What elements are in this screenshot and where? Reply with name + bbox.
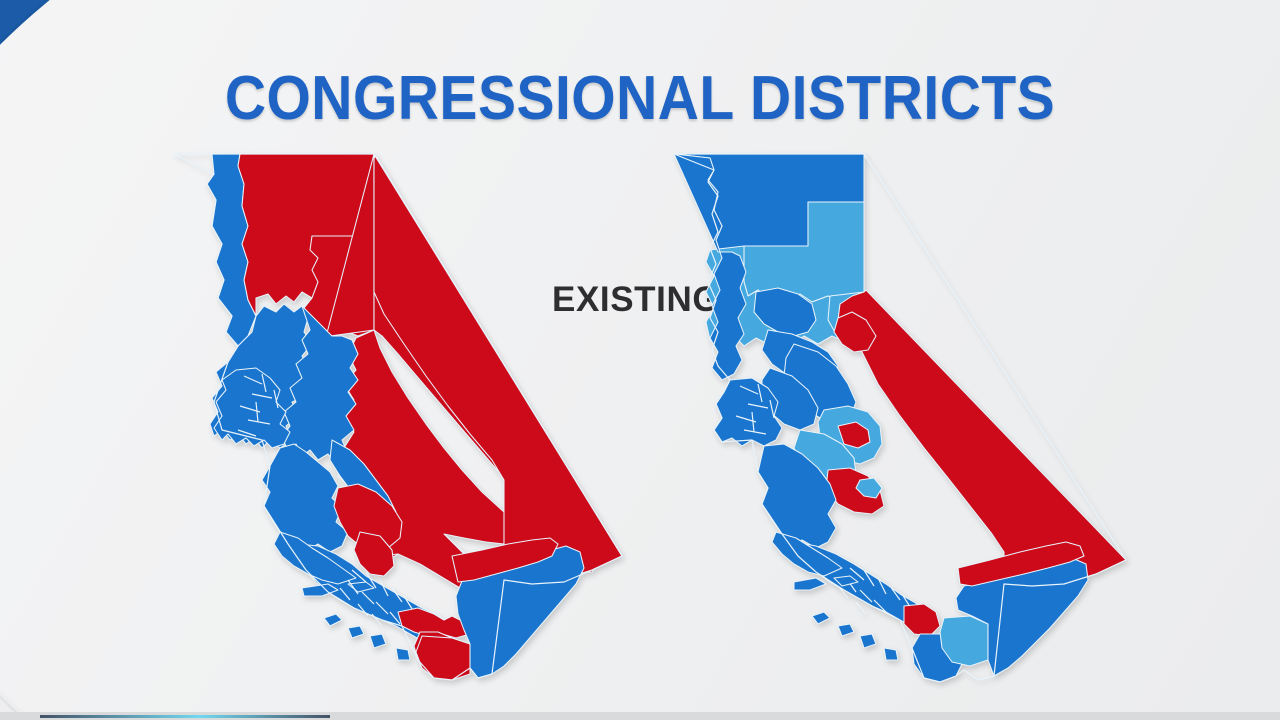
map-panel-proposed: PROPOSED xyxy=(652,140,1152,685)
california-map-existing[interactable] xyxy=(152,140,652,685)
broadcast-graphic-stage: CONGRESSIONAL DISTRICTS xyxy=(0,0,1280,720)
map-panel-existing: EXISTING xyxy=(152,140,652,685)
bottom-bar xyxy=(0,712,1280,720)
bottom-accent-line xyxy=(40,715,330,718)
page-title: CONGRESSIONAL DISTRICTS xyxy=(51,68,1229,130)
california-map-proposed[interactable] xyxy=(652,140,1152,685)
